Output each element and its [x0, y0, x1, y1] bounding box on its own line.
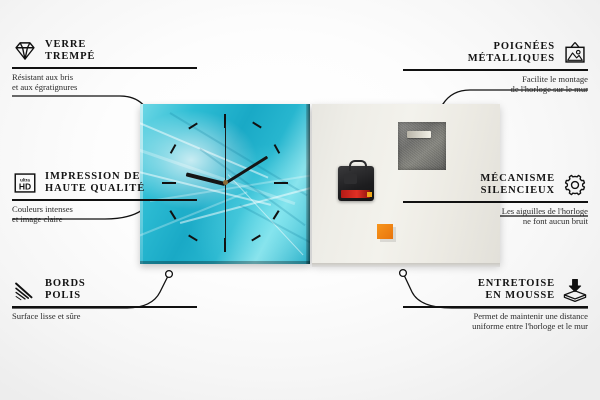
- callout-description: Permet de maintenir une distanceuniforme…: [403, 311, 588, 332]
- clock-minute-hand: [224, 156, 268, 185]
- back-panel-edge-bottom: [312, 263, 500, 267]
- callout-title: IMPRESSION DEHAUTE QUALITÉ: [45, 171, 145, 196]
- callout-divider: [12, 199, 197, 201]
- clock-tick: [188, 122, 197, 129]
- panel-edge-bottom: [140, 261, 310, 264]
- callout-description: Surface lisse et sûre: [12, 311, 197, 322]
- callout-poignees-metalliques: POIGNÉESMÉTALLIQUES Facilite le montaged…: [403, 40, 588, 95]
- polished-edges-icon: [12, 277, 38, 303]
- callout-title: POIGNÉESMÉTALLIQUES: [468, 41, 555, 66]
- callout-description: Les aiguilles de l'horlogene font aucun …: [403, 206, 588, 227]
- callout-title: BORDSPOLIS: [45, 278, 86, 303]
- callout-divider: [12, 306, 197, 308]
- svg-text:HD: HD: [19, 182, 31, 192]
- callout-title: VERRETREMPÉ: [45, 39, 95, 64]
- panel-edge-right: [306, 104, 310, 264]
- battery-terminal: [367, 192, 372, 197]
- callout-entretoise-en-mousse: ENTRETOISEEN MOUSSE Permet de maintenir …: [403, 277, 588, 332]
- callout-title: MÉCANISMESILENCIEUX: [480, 173, 555, 198]
- battery: [341, 190, 370, 198]
- callout-bords-polis: BORDSPOLIS Surface lisse et sûre: [12, 277, 197, 321]
- callout-divider: [12, 67, 197, 69]
- clock-tick: [252, 121, 261, 128]
- callout-verre-trempe: VERRETREMPÉ Résistant aux briset aux égr…: [12, 38, 197, 93]
- diamond-icon: [12, 38, 38, 64]
- callout-description: Résistant aux briset aux égratignures: [12, 72, 197, 93]
- clock-tick: [170, 144, 176, 154]
- callout-mecanisme-silencieux: MÉCANISMESILENCIEUX Les aiguilles de l'h…: [403, 172, 588, 227]
- ultra-hd-icon: ultra HD: [12, 170, 38, 196]
- clock-tick: [274, 144, 280, 154]
- callout-divider: [403, 69, 588, 71]
- callout-divider: [403, 201, 588, 203]
- gear-icon: [562, 172, 588, 198]
- callout-title: ENTRETOISEEN MOUSSE: [478, 278, 555, 303]
- clock-tick: [251, 235, 260, 242]
- clock-center-cap: [223, 180, 228, 185]
- callout-description: Facilite le montagede l'horloge sur le m…: [403, 74, 588, 95]
- callout-impression-haute-qualite: ultra HD IMPRESSION DEHAUTE QUALITÉ Coul…: [12, 170, 197, 225]
- foam-spacer: [377, 224, 393, 239]
- mechanism-dial: [344, 174, 357, 184]
- clock-mechanism: [338, 166, 374, 201]
- callout-divider: [403, 306, 588, 308]
- callout-description: Couleurs intenseset image claire: [12, 204, 197, 225]
- mechanism-hanging-loop: [349, 160, 367, 171]
- infographic-canvas: VERRETREMPÉ Résistant aux briset aux égr…: [0, 0, 600, 400]
- picture-frame-icon: [562, 40, 588, 66]
- hanger-slot: [407, 131, 431, 138]
- clock-tick: [188, 235, 197, 242]
- clock-tick: [274, 182, 288, 184]
- clock-tick: [273, 210, 280, 219]
- foam-spacer-icon: [562, 277, 588, 303]
- metal-hanger-plate: [398, 122, 446, 170]
